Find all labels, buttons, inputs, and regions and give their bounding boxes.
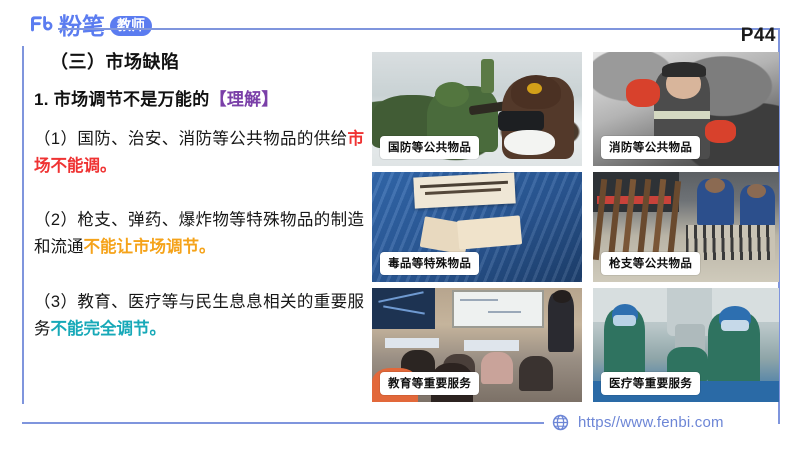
- photo-caption: 消防等公共物品: [601, 136, 700, 159]
- page-number: P44: [741, 25, 776, 47]
- frame-line-left: [22, 46, 24, 404]
- photo-caption: 枪支等公共物品: [601, 252, 700, 275]
- section-heading: （三）市场缺陷: [50, 50, 364, 75]
- point-3-highlight: 不能完全调节。: [51, 320, 167, 338]
- photo-national-defense: 国防等公共物品: [372, 52, 582, 166]
- point-1: （1）国防、治安、消防等公共物品的供给市场不能调。: [34, 126, 364, 179]
- text-column: （三）市场缺陷 1. 市场调节不是万能的【理解】 （1）国防、治安、消防等公共物…: [34, 50, 364, 342]
- point-2-highlight: 不能让市场调节。: [84, 238, 216, 256]
- photo-fire-service: 消防等公共物品: [593, 52, 779, 166]
- photo-healthcare: 医疗等重要服务: [593, 288, 779, 402]
- subsection-heading-text: 1. 市场调节不是万能的: [34, 90, 210, 109]
- point-3: （3）教育、医疗等与民生息息相关的重要服务不能完全调节。: [34, 289, 364, 342]
- brand-wordmark: 粉笔: [59, 15, 105, 38]
- subsection-heading-tag: 【理解】: [210, 90, 279, 109]
- photo-caption: 国防等公共物品: [380, 136, 479, 159]
- frame-line-bottom: [22, 422, 544, 424]
- frame-line-top: [58, 28, 780, 30]
- brand-badge: 教师: [110, 16, 152, 36]
- photo-caption: 教育等重要服务: [380, 372, 479, 395]
- slide-canvas: 粉笔 教师 P44 （三）市场缺陷 1. 市场调节不是万能的【理解】 （1）国防…: [0, 0, 800, 450]
- subsection-heading: 1. 市场调节不是万能的【理解】: [34, 88, 364, 112]
- photo-firearms: 枪支等公共物品: [593, 172, 779, 282]
- footer-url[interactable]: https//www.fenbi.com: [578, 414, 724, 431]
- point-1-lead: （1）国防、治安、消防等公共物品的供给: [34, 130, 348, 148]
- photo-caption: 毒品等特殊物品: [380, 252, 479, 275]
- photo-caption: 医疗等重要服务: [601, 372, 700, 395]
- photo-education: 教育等重要服务: [372, 288, 582, 402]
- brand-logo: 粉笔 教师: [28, 14, 152, 38]
- point-2: （2）枪支、弹药、爆炸物等特殊物品的制造和流通不能让市场调节。: [34, 207, 364, 260]
- photo-special-goods: 毒品等特殊物品: [372, 172, 582, 282]
- fb-elephant-icon: [28, 14, 54, 38]
- globe-icon: [552, 414, 569, 431]
- footer: https//www.fenbi.com: [552, 414, 724, 431]
